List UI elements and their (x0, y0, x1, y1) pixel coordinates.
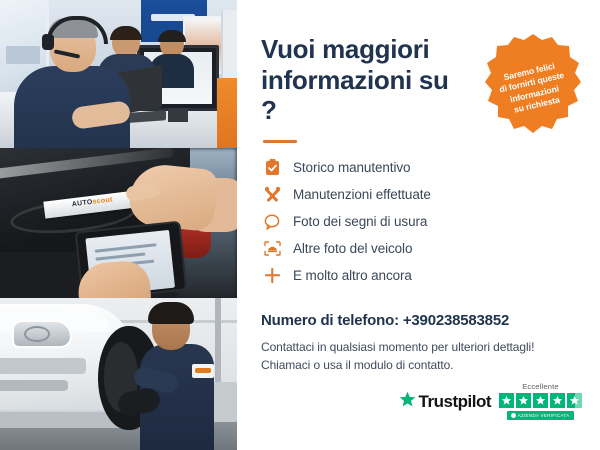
phone-number[interactable]: +390238583852 (403, 312, 509, 329)
content-panel: Vuoi maggiori informazioni su ? Storico … (237, 0, 600, 450)
star-icon (533, 393, 548, 408)
list-item: Manutenzioni effettuate (261, 182, 578, 207)
photo3-mechanic-hair (148, 302, 194, 324)
list-item-label: Manutenzioni effettuate (293, 187, 431, 202)
photo1-orange-object (217, 78, 237, 148)
contact-text: Contattaci in qualsiasi momento per ulte… (261, 338, 578, 374)
photo2-strip-brand-text: AUTOscout (71, 196, 113, 208)
photo3-mechanic-shoulder-badge (192, 364, 214, 378)
photo3-grille-upper (0, 358, 86, 374)
photo-frame-icon (261, 238, 283, 260)
star-icon (550, 393, 565, 408)
photo3-grille-lower (0, 380, 68, 391)
star-icon (516, 393, 531, 408)
trustpilot-star-icon (399, 391, 416, 413)
photo-technician-measuring-car-with-tablet: AUTOscout (0, 148, 237, 298)
trustpilot-logo: Trustpilot (399, 391, 491, 420)
trustpilot-rating-label: Eccellente (522, 382, 559, 391)
trustpilot-stars (499, 393, 582, 408)
badge-text: Saremo felici di fornirti queste informa… (486, 57, 580, 121)
trustpilot-rating: Eccellente (499, 382, 582, 420)
list-item-label: Foto dei segni di usura (293, 214, 427, 229)
photo3-headlight (12, 320, 72, 348)
star-icon-partial (567, 393, 582, 408)
list-item-label: Altre foto del veicolo (293, 241, 412, 256)
trustpilot-name: Trustpilot (419, 392, 491, 412)
title-underline (263, 140, 297, 143)
phone-label: Numero di telefono: (261, 312, 399, 329)
list-item: Foto dei segni di usura (261, 209, 578, 234)
contact-line-2: Chiamaci o usa il modulo di contatto. (261, 358, 453, 372)
list-item: E molto altro ancora (261, 263, 578, 288)
trustpilot-widget[interactable]: Trustpilot Eccellente (399, 382, 582, 420)
list-item: Altre foto del veicolo (261, 236, 578, 261)
plus-icon (261, 265, 283, 287)
phone-line: Numero di telefono: +390238583852 (261, 312, 578, 329)
page-title: Vuoi maggiori informazioni su ? (261, 34, 471, 126)
verified-badge-label: AZIENDA VERIFICATA (518, 413, 570, 418)
headline-line-2: informazioni su ? (261, 65, 449, 126)
photo1-person-foreground (14, 16, 130, 148)
contact-line-1: Contattaci in qualsiasi momento per ulte… (261, 340, 534, 354)
headline-line-1: Vuoi maggiori (261, 34, 429, 64)
photo-column: AUTOscout (0, 0, 237, 450)
list-item-label: Storico manutentivo (293, 160, 410, 175)
feature-list: Storico manutentivo Manutenzioni effettu… (261, 155, 578, 288)
search-bubble-icon (261, 211, 283, 233)
verified-check-icon (511, 413, 516, 418)
clipboard-check-icon (261, 157, 283, 179)
callout-badge: Saremo felici di fornirti queste informa… (480, 32, 586, 144)
list-item-label: E molto altro ancora (293, 268, 412, 283)
photo-mechanic-working-on-white-car-wheel (0, 298, 237, 450)
list-item: Storico manutentivo (261, 155, 578, 180)
promo-banner: AUTOscout (0, 0, 600, 450)
star-icon (499, 393, 514, 408)
status-badge: AZIENDA VERIFICATA (507, 411, 575, 420)
photo-call-center-agents-with-headsets (0, 0, 237, 148)
wrench-screwdriver-icon (261, 184, 283, 206)
